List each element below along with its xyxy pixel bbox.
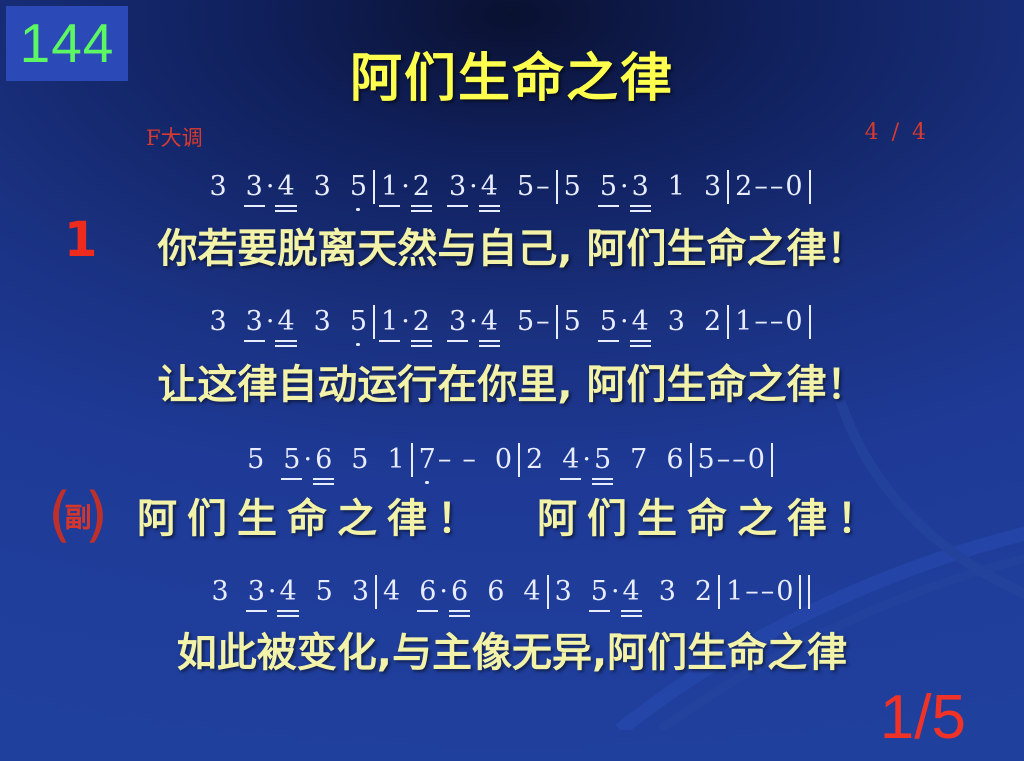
note-extend: – bbox=[769, 306, 785, 337]
note: 4 bbox=[276, 171, 295, 202]
note: 0 bbox=[784, 306, 803, 337]
lyrics-line-2: 让这律自动运行在你里, 阿们生命之律！ bbox=[0, 352, 1024, 410]
lyrics-line-4: 如此被变化,与主像无异,阿们生命之律 bbox=[0, 620, 1024, 678]
note: 6 bbox=[665, 444, 684, 475]
notation-line-4: 33·45346·66435·4321––0 bbox=[0, 575, 1024, 609]
barline bbox=[373, 170, 375, 204]
barline bbox=[771, 443, 773, 477]
key-signature-label: F大调 bbox=[146, 122, 203, 152]
note: 7 bbox=[629, 444, 648, 475]
note: 5 bbox=[349, 171, 368, 202]
lyrics-line-1: 你若要脱离天然与自己, 阿们生命之律！ bbox=[0, 216, 1024, 274]
note: 3 bbox=[554, 576, 573, 607]
note: 3 bbox=[313, 171, 332, 202]
note: 6 bbox=[314, 444, 333, 475]
lyrics-line-3: 阿们生命之律！ 阿们生命之律！ bbox=[0, 486, 1024, 544]
note-extend: – bbox=[535, 306, 551, 337]
note-extend: – bbox=[461, 444, 477, 475]
barline bbox=[556, 305, 558, 339]
note: 7 bbox=[418, 444, 437, 475]
note: 6 bbox=[418, 576, 437, 607]
note: 4 bbox=[276, 306, 295, 337]
note: 4 bbox=[382, 576, 401, 607]
note: 0 bbox=[784, 171, 803, 202]
note: 5 bbox=[593, 444, 612, 475]
note: 3 bbox=[208, 171, 227, 202]
note: 5 bbox=[246, 444, 265, 475]
note: 1 bbox=[734, 306, 753, 337]
hymn-slide: 144 阿们生命之律 F大调 4 / 4 33·4351·23·45–55·31… bbox=[0, 0, 1024, 761]
notation-line-3: 55·6517––024·5765––0 bbox=[0, 443, 1024, 477]
page-title: 阿们生命之律 bbox=[0, 36, 1024, 111]
note-extend: – bbox=[716, 444, 732, 475]
note: 0 bbox=[775, 576, 794, 607]
note: 1 bbox=[725, 576, 744, 607]
note: 3 bbox=[245, 171, 264, 202]
note-extend: – bbox=[753, 171, 769, 202]
time-signature-label: 4 / 4 bbox=[865, 120, 929, 145]
note: 5 bbox=[563, 306, 582, 337]
note: 2 bbox=[734, 171, 753, 202]
barline bbox=[556, 170, 558, 204]
note: 4 bbox=[480, 306, 499, 337]
note: 3 bbox=[211, 576, 230, 607]
note: 0 bbox=[494, 444, 513, 475]
barline bbox=[411, 443, 413, 477]
note: 1 bbox=[380, 171, 399, 202]
note: 5 bbox=[599, 306, 618, 337]
note: 6 bbox=[486, 576, 505, 607]
barline bbox=[809, 305, 811, 339]
final-double-barline bbox=[799, 575, 810, 609]
note: 3 bbox=[245, 306, 264, 337]
note: 5 bbox=[516, 306, 535, 337]
note-extend: – bbox=[760, 576, 776, 607]
note-extend: – bbox=[731, 444, 747, 475]
note: 4 bbox=[631, 306, 650, 337]
note: 1 bbox=[380, 306, 399, 337]
page-indicator: 1/5 bbox=[880, 687, 966, 749]
note: 2 bbox=[694, 576, 713, 607]
note: 5 bbox=[697, 444, 716, 475]
note: 2 bbox=[412, 306, 431, 337]
barline bbox=[547, 575, 549, 609]
note-extend: – bbox=[535, 171, 551, 202]
note-extend: – bbox=[769, 171, 785, 202]
note: 4 bbox=[561, 444, 580, 475]
note: 5 bbox=[350, 444, 369, 475]
note: 3 bbox=[208, 306, 227, 337]
note: 5 bbox=[590, 576, 609, 607]
notation-line-2: 33·4351·23·45–55·4321––0 bbox=[0, 305, 1024, 339]
note: 3 bbox=[448, 171, 467, 202]
note: 4 bbox=[622, 576, 641, 607]
barline bbox=[375, 575, 377, 609]
note: 5 bbox=[349, 306, 368, 337]
note: 5 bbox=[599, 171, 618, 202]
note: 4 bbox=[480, 171, 499, 202]
note: 4 bbox=[278, 576, 297, 607]
note: 2 bbox=[703, 306, 722, 337]
barline bbox=[690, 443, 692, 477]
note: 5 bbox=[315, 576, 334, 607]
barline bbox=[718, 575, 720, 609]
note: 4 bbox=[522, 576, 541, 607]
barline bbox=[518, 443, 520, 477]
note-extend: – bbox=[437, 444, 453, 475]
note: 2 bbox=[525, 444, 544, 475]
note: 2 bbox=[412, 171, 431, 202]
note: 1 bbox=[386, 444, 405, 475]
note: 5 bbox=[563, 171, 582, 202]
note: 5 bbox=[282, 444, 301, 475]
note: 5 bbox=[516, 171, 535, 202]
barline bbox=[373, 305, 375, 339]
note: 1 bbox=[667, 171, 686, 202]
barline bbox=[809, 170, 811, 204]
note: 3 bbox=[631, 171, 650, 202]
note-extend: – bbox=[753, 306, 769, 337]
note: 3 bbox=[667, 306, 686, 337]
barline bbox=[727, 305, 729, 339]
note: 6 bbox=[450, 576, 469, 607]
note: 3 bbox=[658, 576, 677, 607]
barline bbox=[727, 170, 729, 204]
notation-line-1: 33·4351·23·45–55·3132––0 bbox=[0, 170, 1024, 204]
note: 3 bbox=[247, 576, 266, 607]
note: 0 bbox=[747, 444, 766, 475]
note: 3 bbox=[448, 306, 467, 337]
note: 3 bbox=[351, 576, 370, 607]
note: 3 bbox=[313, 306, 332, 337]
note-extend: – bbox=[744, 576, 760, 607]
note: 3 bbox=[703, 171, 722, 202]
